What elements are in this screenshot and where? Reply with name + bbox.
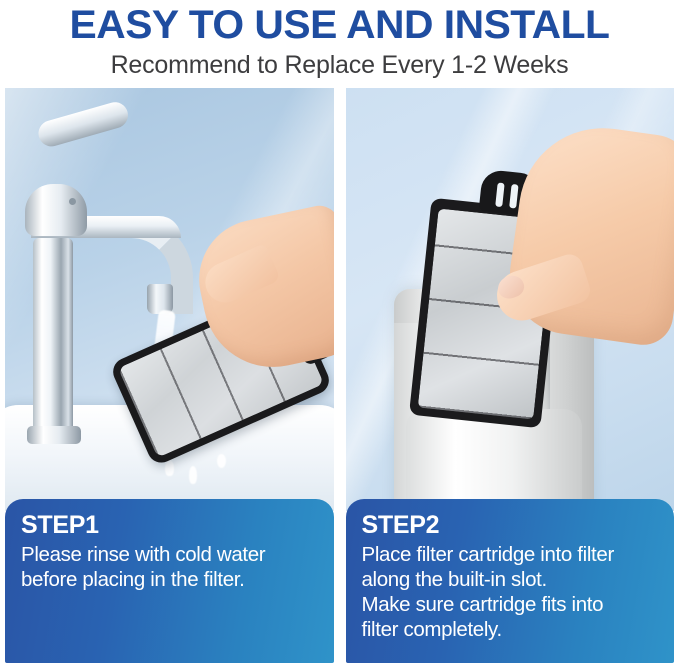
page-title: EASY TO USE AND INSTALL: [0, 4, 679, 46]
faucet-spout: [147, 284, 173, 314]
step-2-text: Place filter cartridge into filter along…: [362, 542, 659, 642]
step-panel-1: STEP1 Please rinse with cold water befor…: [5, 88, 334, 663]
faucet-head: [25, 184, 87, 236]
water-splash: [165, 460, 174, 476]
step-1-photo: [5, 88, 334, 511]
faucet-lever-icon: [35, 99, 131, 149]
faucet-base: [27, 426, 81, 444]
step-2-caption: STEP2 Place filter cartridge into filter…: [346, 499, 675, 663]
step-2-label: STEP2: [362, 512, 659, 539]
step-1-text: Please rinse with cold water before plac…: [21, 542, 318, 592]
faucet-screw: [69, 198, 76, 205]
step-1-caption: STEP1 Please rinse with cold water befor…: [5, 499, 334, 663]
page-subtitle: Recommend to Replace Every 1-2 Weeks: [0, 50, 679, 80]
water-splash: [217, 454, 226, 468]
header-banner: EASY TO USE AND INSTALL Recommend to Rep…: [0, 0, 679, 80]
faucet-column: [33, 238, 73, 438]
step-panel-2: STEP2 Place filter cartridge into filter…: [346, 88, 675, 663]
steps-container: STEP1 Please rinse with cold water befor…: [0, 88, 679, 666]
step-2-photo: [346, 88, 675, 511]
water-splash: [189, 466, 197, 484]
step-1-label: STEP1: [21, 512, 318, 539]
housing-front-wall: [406, 409, 582, 511]
